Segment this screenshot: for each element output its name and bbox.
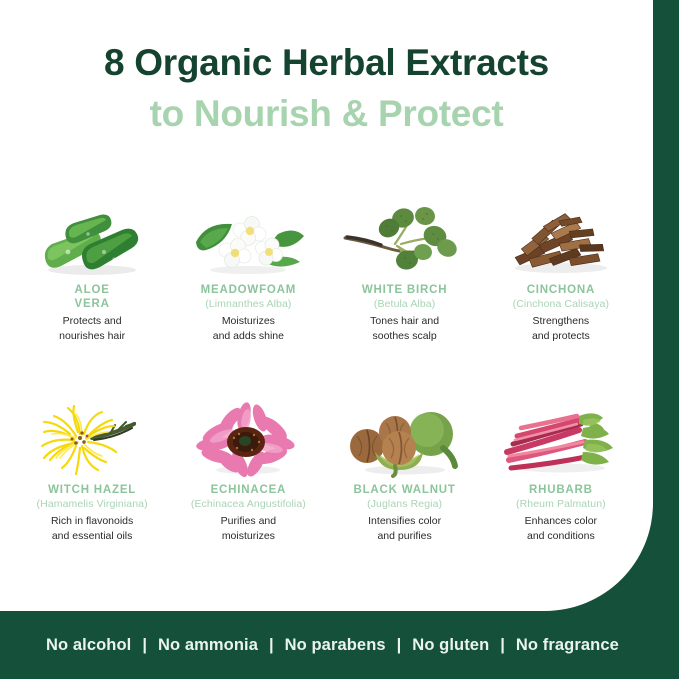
claim-item: No gluten [412, 636, 489, 655]
herb-grid: ALOEVERAProtects andnourishes hairMEADOW… [14, 190, 639, 590]
herb-card: WITCH HAZEL(Hamamelis Virginiana)Rich in… [14, 390, 170, 590]
herb-description: Strengthensand protects [532, 314, 590, 344]
echinacea-flower-icon [182, 390, 314, 482]
black-walnut-icon [339, 390, 471, 482]
herb-name: RHUBARB [529, 484, 593, 498]
claim-item: No fragrance [516, 636, 619, 655]
aloe-vera-icon [26, 190, 158, 282]
herb-name: ALOEVERA [75, 284, 110, 311]
white-birch-branch-icon [339, 190, 471, 282]
herb-description: Rich in flavonoidsand essential oils [51, 514, 133, 544]
rhubarb-stalks-icon [495, 390, 627, 482]
claims-separator: | [489, 636, 516, 655]
meadowfoam-flower-icon [182, 190, 314, 282]
herb-card: CINCHONA(Cinchona Calisaya)Strengthensan… [483, 190, 639, 390]
content-card: 8 Organic Herbal Extracts to Nourish & P… [0, 0, 653, 611]
herb-description: Enhances colorand conditions [525, 514, 597, 544]
claim-item: No ammonia [158, 636, 258, 655]
herb-name: MEADOWFOAM [201, 284, 297, 298]
herb-name: WHITE BIRCH [362, 284, 447, 298]
claims-separator: | [131, 636, 158, 655]
claims-separator: | [258, 636, 285, 655]
herb-latin-name: (Echinacea Angustifolia) [191, 498, 306, 511]
title-line-primary: 8 Organic Herbal Extracts [0, 44, 653, 81]
herb-description: Intensifies colorand purifies [368, 514, 441, 544]
claims-separator: | [386, 636, 413, 655]
title-line-secondary: to Nourish & Protect [0, 95, 653, 132]
witch-hazel-flower-icon [26, 390, 158, 482]
herb-card: BLACK WALNUT(Juglans Regia)Intensifies c… [327, 390, 483, 590]
herb-description: Moisturizesand adds shine [213, 314, 284, 344]
herb-card: WHITE BIRCH(Betula Alba)Tones hair andso… [327, 190, 483, 390]
herb-latin-name: (Cinchona Calisaya) [513, 298, 609, 311]
herb-card: RHUBARB(Rheum Palmatun)Enhances colorand… [483, 390, 639, 590]
herb-name: CINCHONA [527, 284, 595, 298]
claims-list: No alcohol|No ammonia|No parabens|No glu… [0, 636, 619, 655]
page-title: 8 Organic Herbal Extracts to Nourish & P… [0, 44, 653, 132]
herb-latin-name: (Betula Alba) [374, 298, 435, 311]
claim-item: No parabens [285, 636, 386, 655]
herb-description: Tones hair andsoothes scalp [370, 314, 439, 344]
herb-name: BLACK WALNUT [354, 484, 456, 498]
herb-latin-name: (Hamamelis Virginiana) [37, 498, 148, 511]
claims-banner: No alcohol|No ammonia|No parabens|No glu… [0, 611, 679, 679]
claim-item: No alcohol [46, 636, 131, 655]
herb-latin-name: (Juglans Regia) [367, 498, 442, 511]
herb-name: ECHINACEA [211, 484, 287, 498]
herb-latin-name: (Limnanthes Alba) [205, 298, 291, 311]
herb-card: ECHINACEA(Echinacea Angustifolia)Purifie… [170, 390, 326, 590]
herb-card: ALOEVERAProtects andnourishes hair [14, 190, 170, 390]
cinchona-bark-icon [495, 190, 627, 282]
herb-description: Protects andnourishes hair [59, 314, 125, 344]
herb-card: MEADOWFOAM(Limnanthes Alba)Moisturizesan… [170, 190, 326, 390]
herb-name: WITCH HAZEL [48, 484, 136, 498]
herb-description: Purifies andmoisturizes [221, 514, 276, 544]
herb-latin-name: (Rheum Palmatun) [516, 498, 606, 511]
